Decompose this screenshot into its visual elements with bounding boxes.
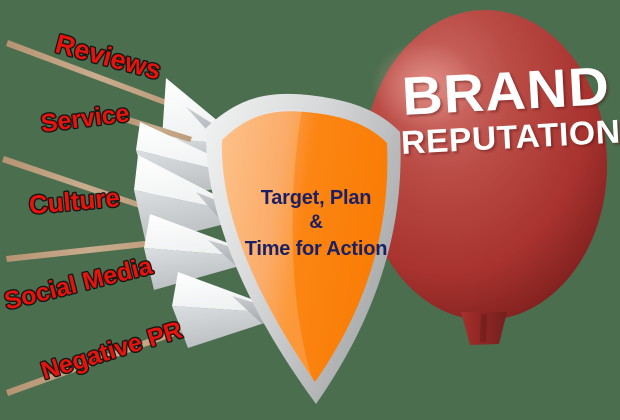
infographic-canvas: Reviews Service Culture Social Media Neg…: [0, 0, 620, 420]
shield-message-line-3: Time for Action: [228, 236, 404, 262]
shield-message-line-1: Target, Plan: [228, 185, 404, 211]
shield-message-line-2: &: [228, 211, 404, 236]
shield-message: Target, Plan & Time for Action: [228, 185, 404, 262]
